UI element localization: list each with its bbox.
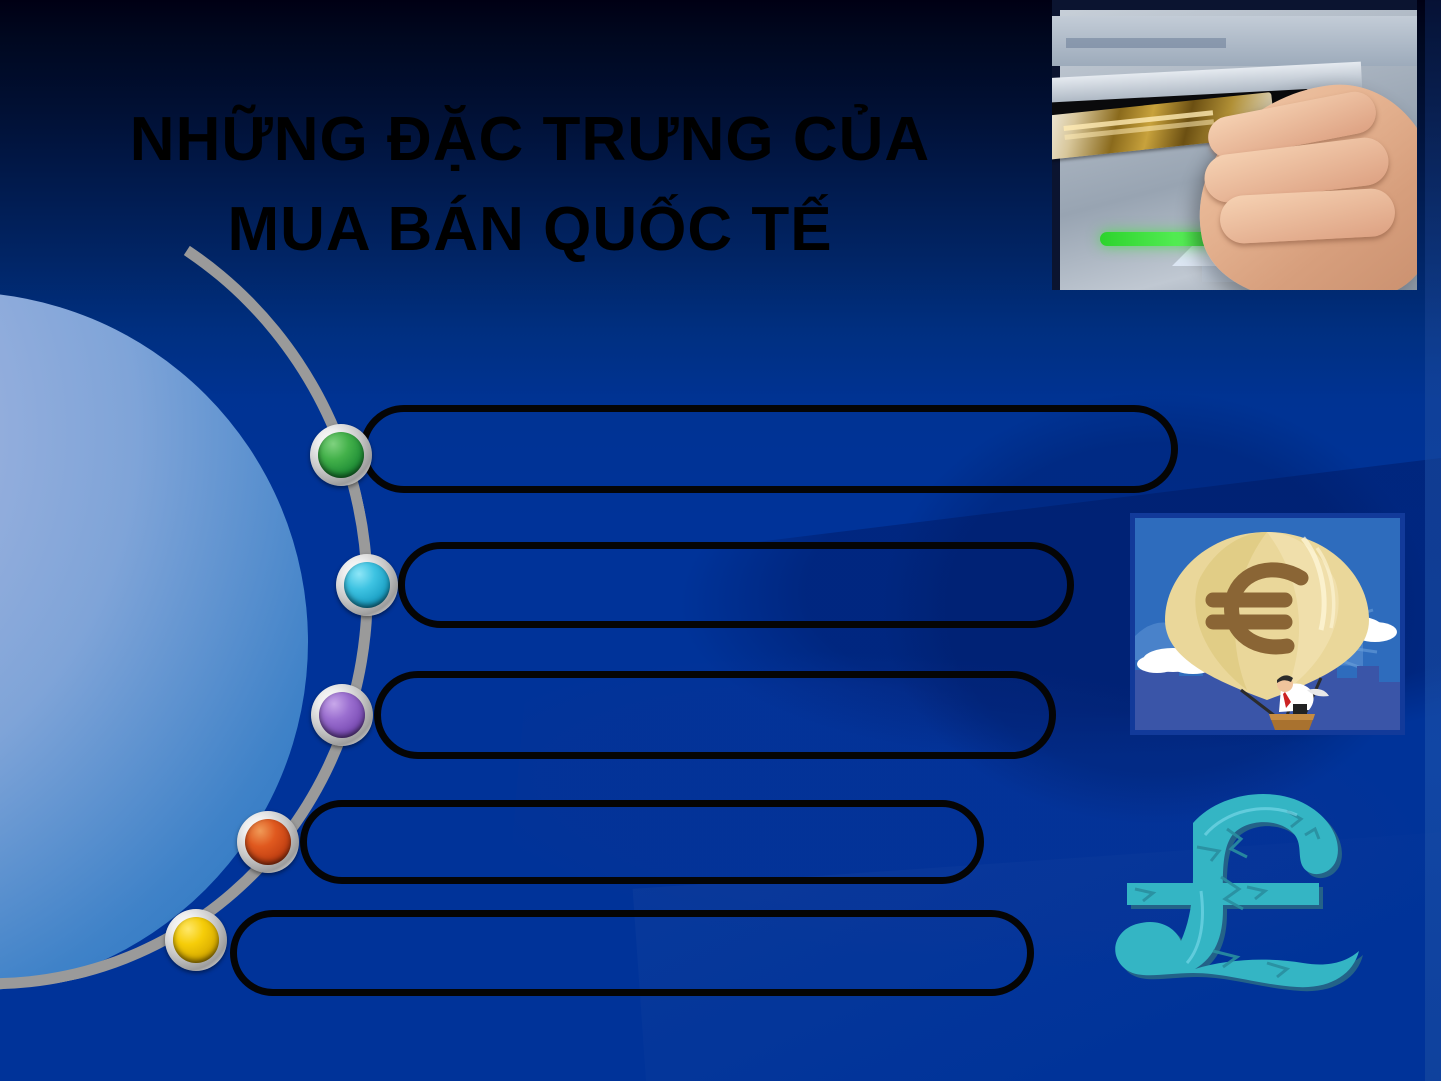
purple-sphere-core — [319, 692, 365, 738]
gold-sphere[interactable] — [165, 909, 227, 971]
green-sphere[interactable] — [310, 424, 372, 486]
bullet-row-3[interactable] — [374, 671, 1056, 759]
cyan-sphere[interactable] — [336, 554, 398, 616]
bullet-row-1[interactable] — [360, 405, 1178, 493]
bullet-row-2[interactable] — [398, 542, 1074, 628]
green-sphere-core — [318, 432, 364, 478]
pound-symbol-clipart — [1095, 775, 1405, 1010]
balloon-sky — [1135, 518, 1400, 730]
orange-sphere-core — [245, 819, 291, 865]
presentation-slide: NHỮNG ĐẶC TRƯNG CỦA MUA BÁN QUỐC TẾ — [0, 0, 1441, 1081]
atm-top-panel — [1052, 16, 1417, 66]
page-title: NHỮNG ĐẶC TRƯNG CỦA MUA BÁN QUỐC TẾ — [0, 95, 1060, 275]
gold-sphere-core — [173, 917, 219, 963]
orange-sphere[interactable] — [237, 811, 299, 873]
background-right-strip — [1425, 0, 1441, 1081]
euro-balloon-icon — [1135, 518, 1400, 730]
bullet-row-4[interactable] — [300, 800, 984, 884]
cyan-sphere-core — [344, 562, 390, 608]
pound-sterling-icon — [1095, 775, 1405, 1010]
euro-balloon-clipart — [1130, 513, 1405, 735]
title-line-2: MUA BÁN QUỐC TẾ — [0, 185, 1060, 275]
title-line-1: NHỮNG ĐẶC TRƯNG CỦA — [0, 95, 1060, 185]
finger-3 — [1219, 187, 1396, 244]
purple-sphere[interactable] — [311, 684, 373, 746]
atm-card-photo — [1052, 0, 1417, 290]
bullet-row-5[interactable] — [230, 910, 1034, 996]
